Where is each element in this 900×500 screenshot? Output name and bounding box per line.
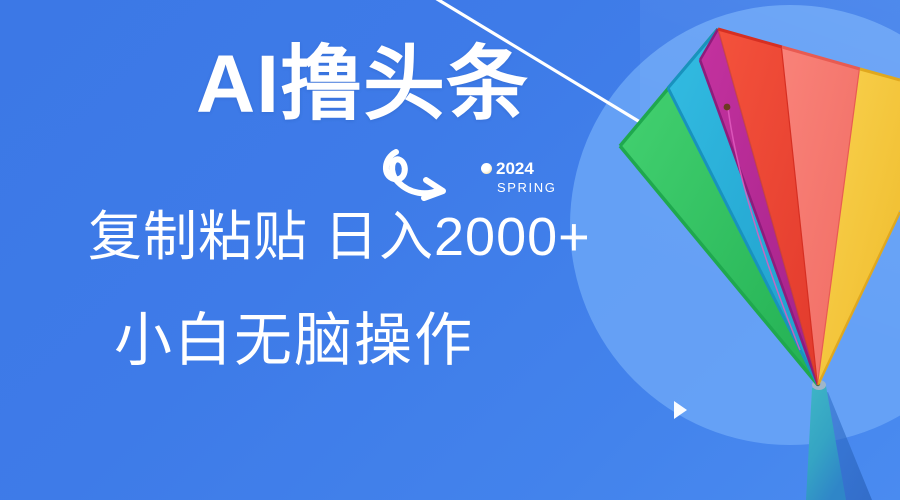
page-title: AI撸头条: [196, 44, 529, 126]
badge-year-row: 2024: [481, 160, 559, 177]
thumbnail-canvas: 2024 SPRING AI撸头条 复制粘贴 日入2000+ 小白无脑操作: [0, 0, 900, 500]
dot-icon: [481, 163, 492, 174]
subtitle-line-1: 复制粘贴 日入2000+: [88, 210, 591, 264]
season-badge: 2024 SPRING: [481, 160, 559, 194]
badge-season: SPRING: [497, 181, 559, 194]
badge-year: 2024: [496, 160, 534, 177]
play-triangle-icon: [674, 401, 687, 419]
subtitle-line-2: 小白无脑操作: [114, 312, 474, 370]
background-accent-circle: [570, 5, 900, 445]
